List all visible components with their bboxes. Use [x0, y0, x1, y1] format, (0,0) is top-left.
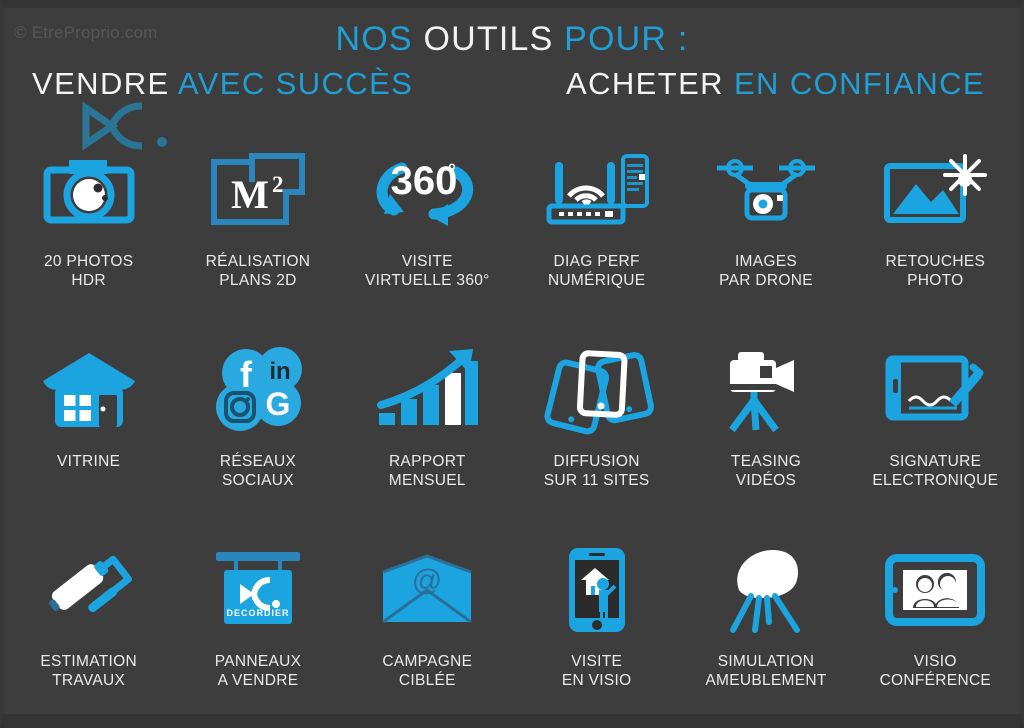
camera-icon: [29, 142, 149, 238]
title-part-nos: NOS: [336, 20, 413, 58]
poster-root: © EtreProprio.com NOS OUTILS POUR : VEND…: [0, 0, 1024, 728]
svg-text:@: @: [412, 564, 442, 597]
tool-label: RETOUCHES PHOTO: [885, 252, 985, 290]
tool-label: RÉSEAUX SOCIAUX: [220, 452, 296, 490]
tool-cell[interactable]: ESTIMATION TRAVAUX: [4, 538, 173, 728]
router-wifi-phone-icon: [537, 142, 657, 238]
tool-label: VISIO CONFÉRENCE: [880, 652, 992, 690]
svg-text:2: 2: [272, 172, 284, 197]
subtitle-acheter-white: ACHETER: [566, 66, 724, 101]
tools-grid: 20 PHOTOS HDR M 2 RÉALISATION PLANS 2D 3…: [4, 138, 1020, 728]
tool-cell[interactable]: 360 ° VISITE VIRTUELLE 360°: [343, 138, 512, 338]
svg-text:°: °: [448, 161, 456, 183]
svg-text:M: M: [231, 172, 269, 217]
subtitle-row: VENDRE AVEC SUCCÈS ACHETER EN CONFIANCE: [4, 66, 1020, 112]
email-envelope-icon: @: [367, 542, 487, 638]
tool-label: VISITE VIRTUELLE 360°: [365, 252, 490, 290]
paint-roller-icon: [29, 542, 149, 638]
tool-cell[interactable]: DIAG PERF NUMÉRIQUE: [512, 138, 681, 338]
subtitle-vendre: VENDRE AVEC SUCCÈS: [32, 66, 413, 102]
phone-visit-icon: [537, 542, 657, 638]
tool-cell[interactable]: RAPPORT MENSUEL: [343, 338, 512, 538]
tool-label: IMAGES PAR DRONE: [719, 252, 813, 290]
tool-cell[interactable]: @ CAMPAGNE CIBLÉE: [343, 538, 512, 728]
tool-cell[interactable]: SIGNATURE ELECTRONIQUE: [851, 338, 1020, 538]
tool-cell[interactable]: VISITE EN VISIO: [512, 538, 681, 728]
subtitle-acheter: ACHETER EN CONFIANCE: [566, 66, 985, 102]
tool-label: CAMPAGNE CIBLÉE: [382, 652, 472, 690]
tool-label: SIGNATURE ELECTRONIQUE: [872, 452, 998, 490]
title-part-pour: POUR :: [564, 20, 688, 58]
tool-label: RÉALISATION PLANS 2D: [206, 252, 311, 290]
subtitle-vendre-blue: AVEC SUCCÈS: [178, 66, 413, 101]
tool-label: DIAG PERF NUMÉRIQUE: [548, 252, 645, 290]
tool-cell[interactable]: M 2 RÉALISATION PLANS 2D: [173, 138, 342, 338]
for-sale-sign-icon: DECORDIER: [198, 542, 318, 638]
title-part-outils: OUTILS: [423, 20, 553, 58]
svg-text:G: G: [266, 386, 291, 422]
tool-cell[interactable]: IMAGES PAR DRONE: [681, 138, 850, 338]
tablet-signature-icon: [875, 342, 995, 438]
subtitle-vendre-white: VENDRE: [32, 66, 170, 101]
svg-text:DECORDIER: DECORDIER: [226, 608, 289, 618]
chair-icon: [706, 542, 826, 638]
tool-cell[interactable]: SIMULATION AMEUBLEMENT: [681, 538, 850, 728]
tool-label: 20 PHOTOS HDR: [44, 252, 133, 290]
tool-cell[interactable]: VISIO CONFÉRENCE: [851, 538, 1020, 728]
tool-label: VISITE EN VISIO: [562, 652, 632, 690]
tool-label: ESTIMATION TRAVAUX: [40, 652, 137, 690]
tool-cell[interactable]: 20 PHOTOS HDR: [4, 138, 173, 338]
tool-cell[interactable]: DECORDIER PANNEAUX A VENDRE: [173, 538, 342, 728]
tool-cell[interactable]: TEASING VIDÉOS: [681, 338, 850, 538]
svg-text:f: f: [240, 354, 253, 395]
tool-cell[interactable]: f in G RÉSEAUX SOCIAUX: [173, 338, 342, 538]
floorplan-m2-icon: M 2: [198, 142, 318, 238]
social-networks-icon: f in G: [198, 342, 318, 438]
drone-icon: [706, 142, 826, 238]
tool-label: DIFFUSION SUR 11 SITES: [544, 452, 650, 490]
page-title: NOS OUTILS POUR :: [4, 20, 1020, 59]
360-arrows-icon: 360 °: [367, 142, 487, 238]
tool-cell[interactable]: DIFFUSION SUR 11 SITES: [512, 338, 681, 538]
tablets-icon: [537, 342, 657, 438]
tool-label: SIMULATION AMEUBLEMENT: [705, 652, 826, 690]
tablet-people-icon: [875, 542, 995, 638]
growth-chart-icon: [367, 342, 487, 438]
svg-text:in: in: [269, 358, 290, 385]
tool-label: PANNEAUX A VENDRE: [215, 652, 302, 690]
photo-retouch-icon: [875, 142, 995, 238]
shop-house-icon: [29, 342, 149, 438]
tool-label: RAPPORT MENSUEL: [389, 452, 466, 490]
tool-cell[interactable]: VITRINE: [4, 338, 173, 538]
tool-label: TEASING VIDÉOS: [731, 452, 801, 490]
subtitle-acheter-blue: EN CONFIANCE: [734, 66, 985, 101]
tool-label: VITRINE: [57, 452, 120, 471]
video-camera-tripod-icon: [706, 342, 826, 438]
tool-cell[interactable]: RETOUCHES PHOTO: [851, 138, 1020, 338]
